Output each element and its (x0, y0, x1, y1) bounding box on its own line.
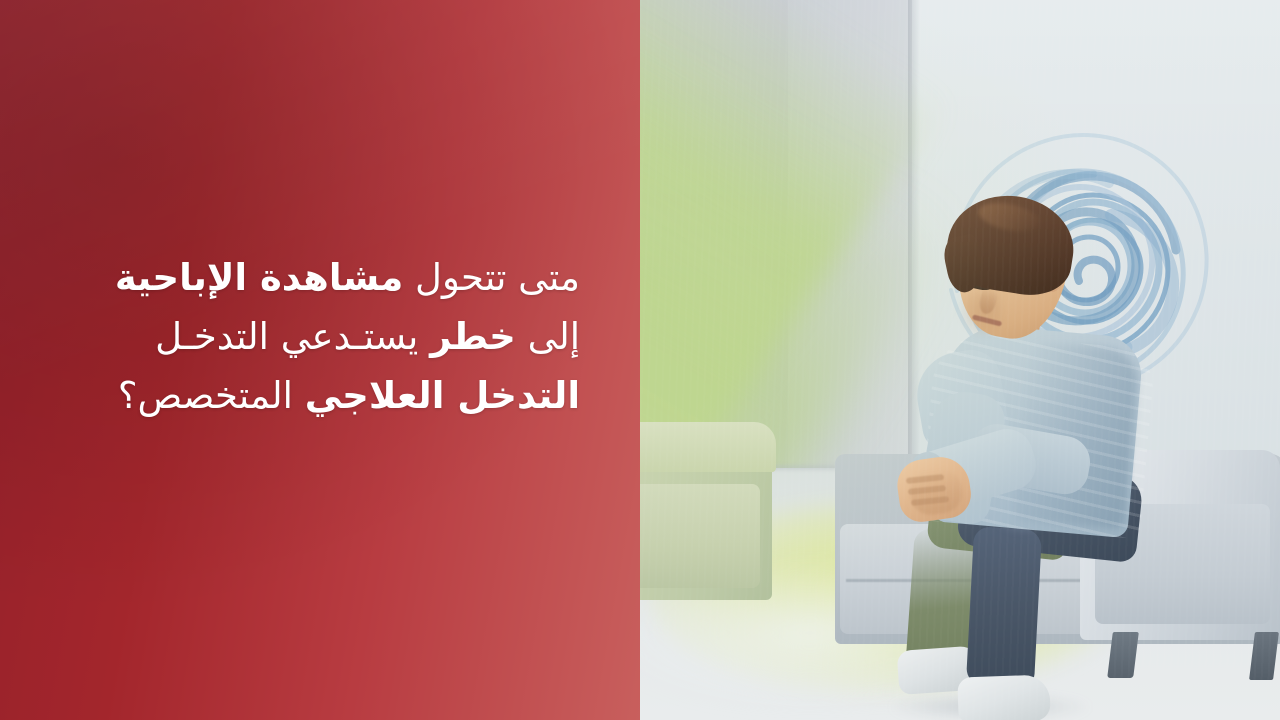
illustration-panel (640, 0, 1280, 720)
headline-line-3-bold: التدخل العلاجي (305, 374, 580, 417)
headline-line-2: إلى خطر يستـدعي التدخـل (56, 307, 580, 366)
headline: متى تتحول مشاهدة الإباحية إلى خطر يستـدع… (56, 248, 580, 425)
headline-line-3: التدخل العلاجي المتخصص؟ (56, 366, 580, 425)
headline-line-2-regular-a: إلى (516, 315, 580, 358)
headline-line-1-regular: متى تتحول (403, 256, 580, 299)
headline-line-2-regular-b: يستـدعي التدخـل (155, 315, 430, 358)
leg-near-shin (966, 526, 1042, 687)
seated-young-man (640, 0, 1280, 720)
red-text-panel: متى تتحول مشاهدة الإباحية إلى خطر يستـدع… (0, 0, 640, 720)
headline-line-2-bold: خطر (430, 315, 516, 358)
headline-line-1-bold: مشاهدة الإباحية (115, 256, 403, 299)
sock-near (957, 674, 1051, 720)
banner-canvas: متى تتحول مشاهدة الإباحية إلى خطر يستـدع… (0, 0, 1280, 720)
headline-line-3-regular: المتخصص؟ (118, 374, 305, 417)
headline-line-1: متى تتحول مشاهدة الإباحية (56, 248, 580, 307)
